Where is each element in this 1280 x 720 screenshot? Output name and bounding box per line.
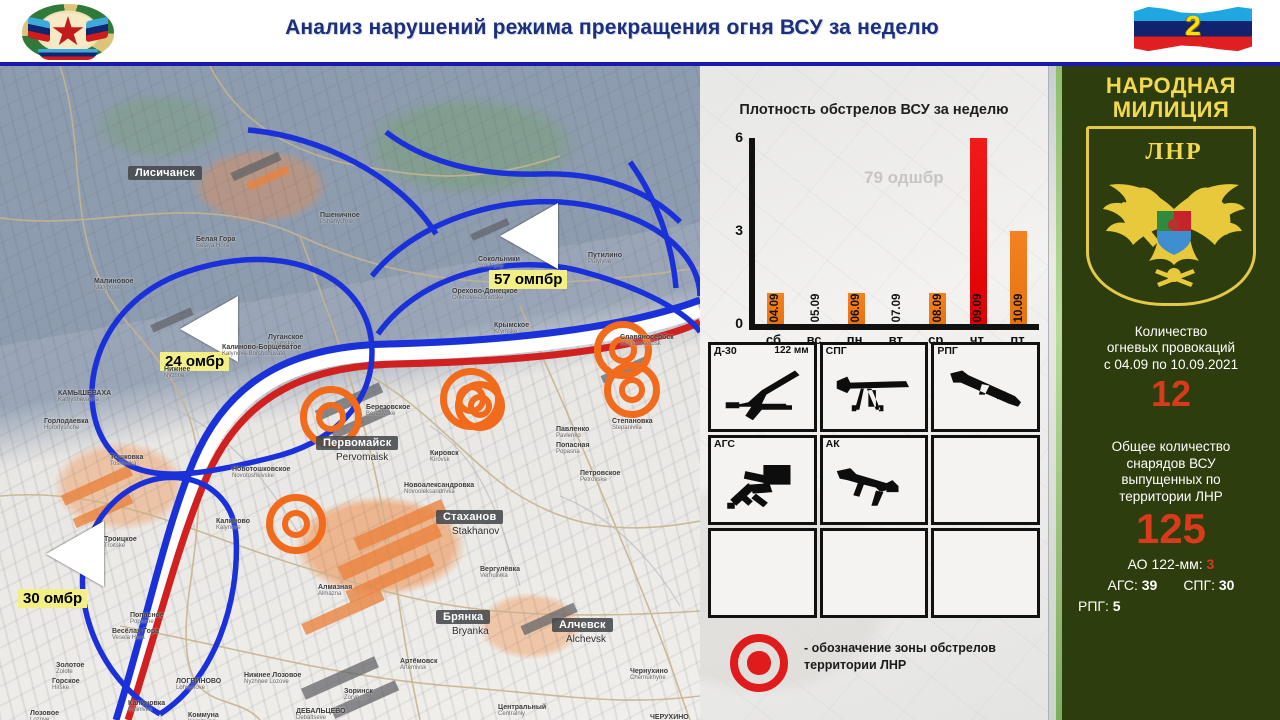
village-label: СтепановкаStepanivka xyxy=(612,418,653,431)
weapon-name: Д-30 xyxy=(714,345,737,357)
weapon-name: АК xyxy=(826,438,840,450)
shelling-density-bar-chart: 79 одшбр 03604.09сб.05.09вс.06.09пн.07.0… xyxy=(716,138,1036,330)
weapon-name: РПГ xyxy=(937,345,958,357)
shelling-zone-marker[interactable] xyxy=(604,362,660,418)
village-label: ЛозовоеLozove xyxy=(30,710,59,720)
sidebar-title-line1: НАРОДНАЯ xyxy=(1062,74,1280,98)
slide-header: Анализ нарушений режима прекращения огня… xyxy=(0,0,1280,64)
city-label-latin: Bryanka xyxy=(452,626,489,637)
breakdown-ao122: АО 122-мм: 3 xyxy=(1062,556,1280,572)
weapons-grid: Д-30122 ммСПГРПГАГСАК xyxy=(708,342,1040,618)
provocations-count: 12 xyxy=(1062,375,1280,413)
chart-y-tick: 6 xyxy=(716,129,743,145)
chart-y-tick: 0 xyxy=(716,315,743,331)
tactical-map[interactable]: 24 омбр 57 омпбр 30 омбр Лисичанск Перво… xyxy=(0,66,700,720)
city-label-latin: Alchevsk xyxy=(566,634,606,645)
village-label: ПетровскоеPetrovske xyxy=(580,470,620,483)
chart-y-axis xyxy=(749,138,755,330)
village-label: АлмазнаяAlmazna xyxy=(318,584,352,597)
shells-caption: Общее количество снарядов ВСУ выпущенных… xyxy=(1062,439,1280,505)
city-label: Первомайск xyxy=(316,436,398,450)
village-label: КалиновоKalynove xyxy=(216,518,250,531)
village-label: ГорлодаевкаHorodyshche xyxy=(44,418,88,431)
sidebar-title-line2: МИЛИЦИЯ xyxy=(1062,98,1280,122)
recoilless-gun-spg-icon xyxy=(828,360,919,425)
lnr-militia-emblem: ЛНР xyxy=(1086,126,1256,306)
village-label: ЗолотоеZolote xyxy=(56,662,84,675)
lnr-coat-of-arms-icon xyxy=(16,2,120,62)
assault-rifle-ak-icon xyxy=(828,453,919,518)
chart-point-label: 07.09 xyxy=(891,294,903,323)
shelling-zone-marker[interactable] xyxy=(455,381,505,431)
village-label: ПшеничноеPshenychne xyxy=(320,212,360,225)
shells-count: 125 xyxy=(1062,507,1280,551)
weapon-cell-empty xyxy=(931,528,1040,618)
unit-label-30-ombr: 30 омбр xyxy=(18,589,87,608)
breakdown-rpg: РПГ: 5 xyxy=(1062,598,1280,614)
weapon-cell: АК xyxy=(820,435,929,525)
unit-label-57-ompbr: 57 омпбр xyxy=(489,270,567,289)
weapon-cell: РПГ xyxy=(931,342,1040,432)
village-label: Орехово-ДонецкоеOrikhove-Donetske xyxy=(452,288,518,301)
shelling-zone-marker[interactable] xyxy=(266,494,326,554)
village-label: ЗоринскZorynsk xyxy=(344,688,373,701)
village-label: ЧЕРУХИНОCherukhyne xyxy=(650,714,689,720)
village-label: НижнееNyzhne xyxy=(164,366,190,379)
breakdown-ags: АГС: 39 xyxy=(1108,577,1158,593)
statistics-block: Количество огневых провокаций с 04.09 по… xyxy=(1062,324,1280,614)
chart-point-label: 10.09 xyxy=(1013,294,1025,323)
rocket-launcher-rpg-icon xyxy=(940,360,1031,425)
weapon-name: АГС xyxy=(714,438,735,450)
village-label: КоммунаKommuna xyxy=(188,712,219,720)
village-label: КАМЫШЕВАХАKamyshevakha xyxy=(58,390,111,403)
weapon-cell-empty xyxy=(931,435,1040,525)
city-label-latin: Pervomaisk xyxy=(336,452,388,463)
city-label: Брянка xyxy=(436,610,490,624)
city-label-latin: Stakhanov xyxy=(452,526,499,537)
city-label: Алчевск xyxy=(552,618,613,632)
page-title: Анализ нарушений режима прекращения огня… xyxy=(262,16,962,40)
chart-point-label: 06.09 xyxy=(850,294,862,323)
chart-watermark: 79 одшбр xyxy=(864,168,944,188)
chart-point-label: 09.09 xyxy=(972,294,984,323)
weapon-cell: СПГ xyxy=(820,342,929,432)
lnr-flag-icon: 2 xyxy=(1134,6,1252,56)
village-label: КрымскоеKrymske xyxy=(494,322,529,335)
village-label: Нижнее ЛозовоеNyzhnee Lozove xyxy=(244,672,301,685)
village-label: ТошковкаToshkivka xyxy=(110,454,143,467)
village-label: ПопасноеPopasne xyxy=(130,612,164,625)
village-label: Белая ГораBelaya Hora xyxy=(196,236,235,249)
village-label: ДЕБАЛЬЦЕВОDebaltseve xyxy=(296,708,346,720)
chart-point-label: 08.09 xyxy=(932,294,944,323)
info-sidebar: НАРОДНАЯ МИЛИЦИЯ ЛНР xyxy=(1062,66,1280,720)
village-label: КалиновкаKalinivka xyxy=(128,700,165,713)
village-label: ЦентральныйCentralniy xyxy=(498,704,546,717)
map-legend: - обозначение зоны обстрелов территории … xyxy=(718,632,1038,698)
village-label: ЧернухиноChernukhyne xyxy=(630,668,668,681)
howitzer-d30-icon xyxy=(717,360,808,425)
chart-title: Плотность обстрелов ВСУ за неделю xyxy=(700,102,1048,118)
village-label: ВергулёвкаVerhulivka xyxy=(480,566,520,579)
legend-text: - обозначение зоны обстрелов территории … xyxy=(804,640,1034,674)
sidebar-title: НАРОДНАЯ МИЛИЦИЯ xyxy=(1062,74,1280,122)
chart-x-axis xyxy=(749,324,1039,330)
city-label: Лисичанск xyxy=(128,166,202,180)
chart-point-label: 04.09 xyxy=(769,294,781,323)
breakdown-ags-spg: АГС: 39 СПГ: 30 xyxy=(1062,577,1280,593)
village-label: ТроицкоеTroitske xyxy=(104,536,137,549)
village-label: ПутилиноPutylyne xyxy=(588,252,622,265)
village-label: Весёлая ГораVesela Hora xyxy=(112,628,159,641)
village-label: КировскKirovsk xyxy=(430,450,459,463)
village-label: НовоалександровкаNovooleksandrivka xyxy=(404,482,474,495)
village-label: МалиновоеMalynove xyxy=(94,278,133,291)
unit-symbol-30-ombr xyxy=(46,521,104,587)
provocations-caption: Количество огневых провокаций с 04.09 по… xyxy=(1062,324,1280,373)
village-label: НовотошковскоеNovotoshkivske xyxy=(232,466,290,479)
village-label: АртёмовскArtemivsk xyxy=(400,658,437,671)
village-label: ГорскоеHirske xyxy=(52,678,80,691)
slide-root: Анализ нарушений режима прекращения огня… xyxy=(0,0,1280,720)
target-marker-icon xyxy=(730,634,788,692)
breakdown-spg: СПГ: 30 xyxy=(1183,577,1234,593)
village-label: БерезовскоеBerezivske xyxy=(366,404,410,417)
village-label: СокольникиSokilnyky xyxy=(478,256,520,269)
city-label: Стаханов xyxy=(436,510,503,524)
double-headed-eagle-icon xyxy=(1097,165,1251,291)
weapon-cell-empty xyxy=(708,528,817,618)
weapon-cell: АГС xyxy=(708,435,817,525)
grenade-launcher-ags-icon xyxy=(717,453,808,518)
slide-number: 2 xyxy=(1134,10,1252,42)
weapon-caliber: 122 мм xyxy=(774,345,808,356)
village-label: ЛОГВИНОВОLohvynove xyxy=(176,678,221,691)
weapon-name: СПГ xyxy=(826,345,847,357)
shield-label: ЛНР xyxy=(1089,139,1259,166)
village-label: СлавяносербскSlovianoserbsk xyxy=(620,334,674,347)
village-label: Калиново-БорщеватоеKalynove-Borshchuvate xyxy=(222,344,301,357)
weapon-cell: Д-30122 мм xyxy=(708,342,817,432)
village-label: ПопаснаяPopasna xyxy=(556,442,590,455)
analytics-panel: Плотность обстрелов ВСУ за неделю 79 одш… xyxy=(700,66,1048,720)
weapon-cell-empty xyxy=(820,528,929,618)
chart-point-label: 05.09 xyxy=(810,294,822,323)
chart-y-tick: 3 xyxy=(716,222,743,238)
village-label: ПавленкоPavlenko xyxy=(556,426,589,439)
